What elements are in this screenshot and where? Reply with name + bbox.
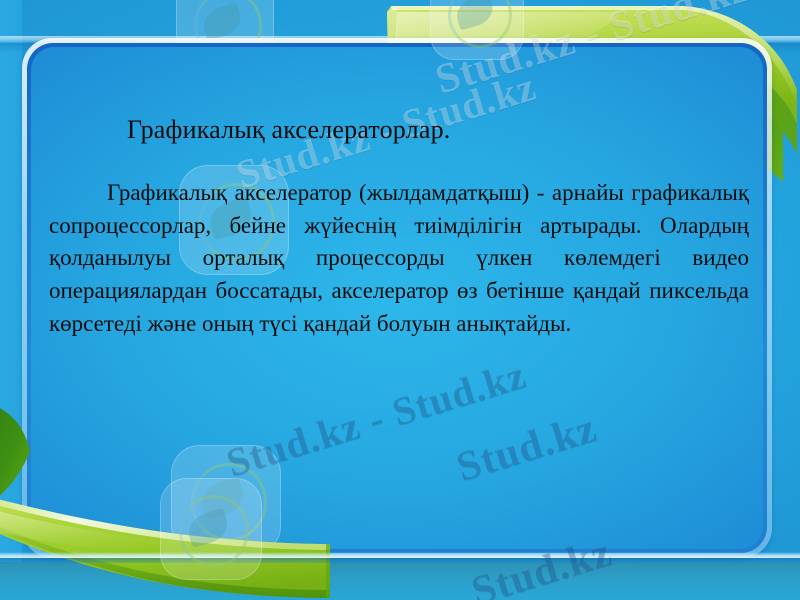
stud-kz-logo-watermark	[430, 0, 524, 60]
slide-body-paragraph: Графикалық акселератор (жылдамдатқыш) - …	[49, 177, 749, 340]
stud-kz-logo-watermark	[160, 478, 262, 580]
logo-swirl-icon	[448, 0, 513, 48]
page-title: Графикалық акселераторлар.	[127, 115, 450, 145]
presentation-slide: Stud.kz - Stud.kz Stud.kz - Stud.kz Граф…	[0, 0, 800, 600]
background-bottom-shadow-line	[0, 558, 800, 563]
logo-swirl-icon	[179, 495, 249, 567]
